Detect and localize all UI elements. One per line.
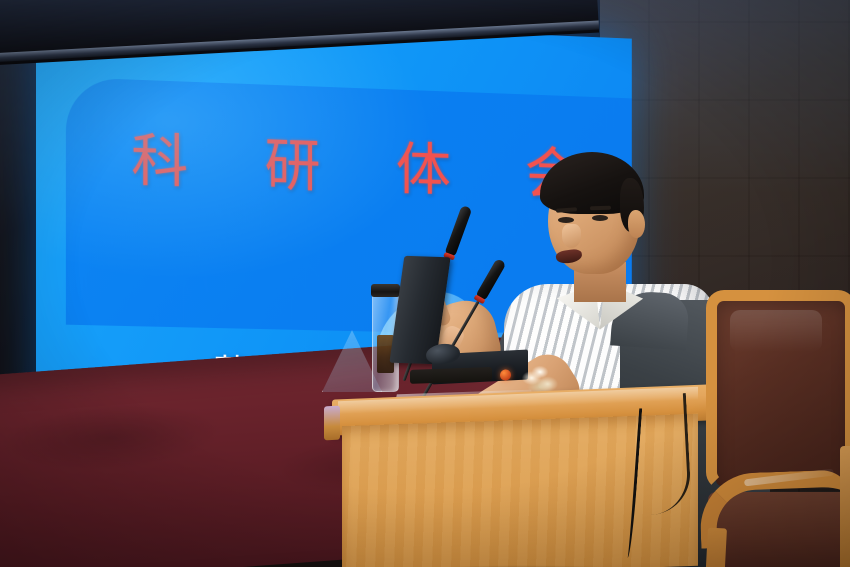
- desk-left-edge: [324, 406, 340, 441]
- desk-front-panel: [342, 414, 698, 567]
- wooden-armchair[interactable]: [700, 296, 850, 567]
- eyebrow-right: [590, 206, 611, 211]
- photograph-scene: 科 研 体 会 葛彦东: [0, 0, 850, 567]
- tumbler-cap: [371, 284, 400, 297]
- speaker-grille: [410, 367, 492, 384]
- desk-floor-shadow: [350, 562, 700, 567]
- chair-leg: [704, 528, 727, 567]
- ear: [628, 210, 645, 238]
- wood-grain-texture: [342, 414, 698, 567]
- nose: [562, 224, 581, 248]
- eye-right: [592, 215, 608, 221]
- microphone-led-icon[interactable]: [500, 369, 511, 380]
- chair-frame-edge: [840, 446, 850, 567]
- eye-left: [558, 217, 574, 223]
- podium-desk: [332, 392, 710, 567]
- chair-back-highlight: [730, 310, 822, 352]
